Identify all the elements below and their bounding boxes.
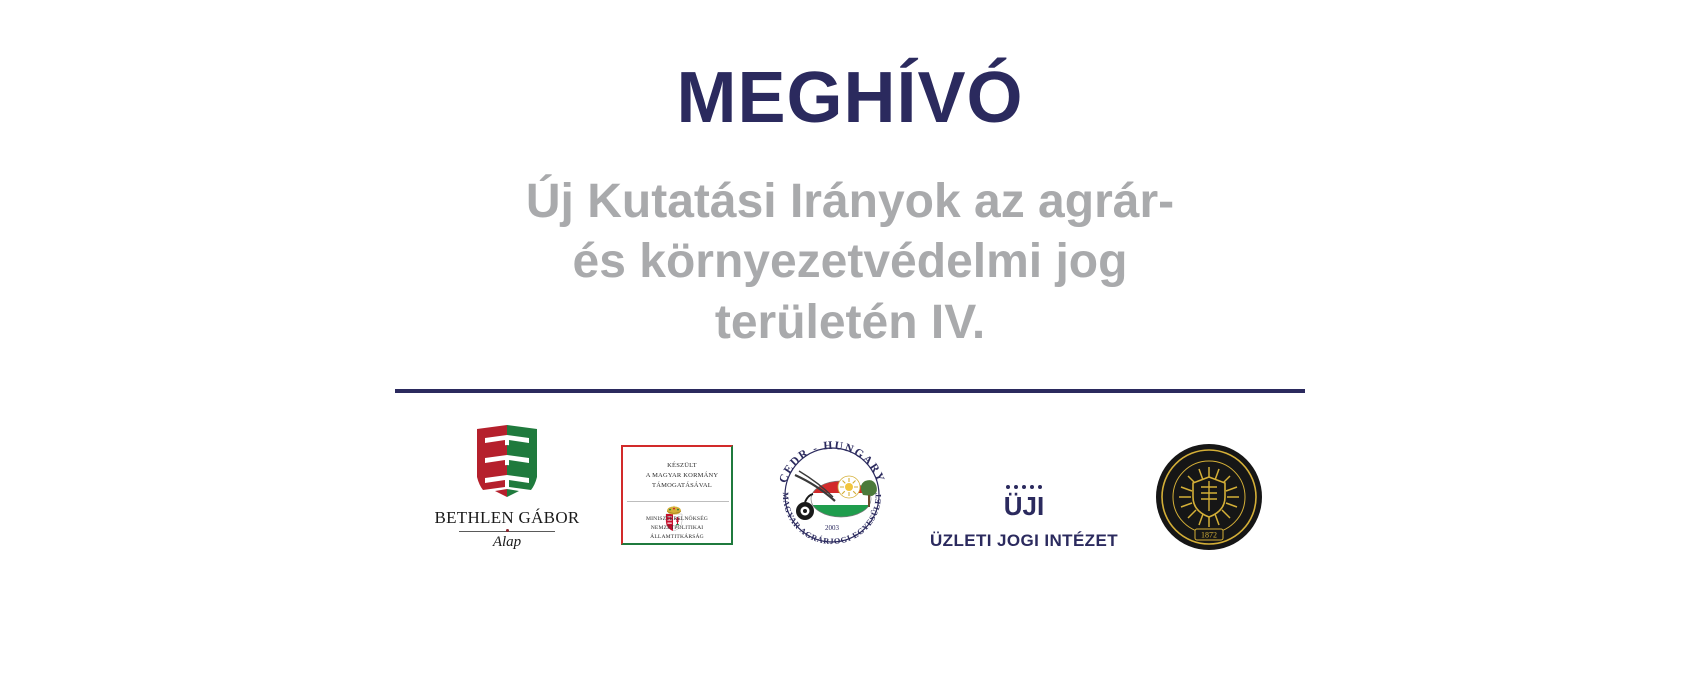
bethlen-gabor-name: BETHLEN GÁBOR [434,508,579,528]
horizontal-divider [395,389,1305,393]
subtitle-line-3: területén IV. [440,293,1260,353]
mek-bottom-line-1: MINISZTERELNÖKSÉG [625,515,729,524]
cedr-hungary-seal-icon: CEDR - HUNGARY MAGYAR AGRÁRJOGI EGYESÜLE… [771,433,893,551]
cedr-arc-top-text: CEDR - HUNGARY [777,440,886,485]
mek-top-line-3: TÁMOGATÁSÁVAL [635,481,729,491]
cedr-year-text: 2003 [825,524,840,532]
event-subtitle: Új Kutatási Irányok az agrár- és környez… [440,172,1260,353]
logo-uzleti-jogi-intezet: ÜJI ÜZLETI JOGI INTÉZET [929,481,1119,551]
mek-bottom-line-2: NEMZETPOLITIKAI ÁLLAMTITKÁRSÁG [625,524,729,541]
subtitle-line-1: Új Kutatási Irányok az agrár- [440,172,1260,232]
subtitle-line-2: és környezetvédelmi jog [440,232,1260,292]
mek-top-line-2: A MAGYAR KORMÁNY [635,471,729,481]
uji-institute-name: ÜZLETI JOGI INTÉZET [930,531,1118,551]
bethlen-gabor-rule [459,531,555,532]
divider-wrap [395,389,1305,393]
page-title: MEGHÍVÓ [676,62,1023,134]
university-seal-icon: 1872 [1155,443,1263,551]
bethlen-shield-icon [461,423,553,501]
bethlen-gabor-subname: Alap [493,534,521,551]
uji-monogram-text: ÜJI [1004,491,1044,521]
mek-top-line-1: KÉSZÜLT [635,461,729,471]
uji-monogram-icon: ÜJI [998,481,1050,521]
logo-cedr-hungary: CEDR - HUNGARY MAGYAR AGRÁRJOGI EGYESÜLE… [771,433,893,551]
miniszterelnokseg-divider [627,501,729,502]
logo-bethlen-gabor-alap: BETHLEN GÁBOR Alap [437,423,577,551]
logo-miniszterelnokseg: KÉSZÜLT A MAGYAR KORMÁNY TÁMOGATÁSÁVAL [613,439,735,551]
miniszterelnokseg-bottom-text: MINISZTERELNÖKSÉG NEMZETPOLITIKAI ÁLLAMT… [625,515,729,541]
svg-text:CEDR - HUNGARY: CEDR - HUNGARY [777,440,886,485]
logo-university-seal: 1872 [1155,443,1263,551]
invitation-page: MEGHÍVÓ Új Kutatási Irányok az agrár- és… [0,0,1700,680]
seal-year-text: 1872 [1201,531,1217,540]
invitation-content: MEGHÍVÓ Új Kutatási Irányok az agrár- és… [0,0,1700,680]
sponsor-logo-row: BETHLEN GÁBOR Alap KÉSZÜLT A MAGYAR KORM… [0,423,1700,551]
miniszterelnokseg-top-text: KÉSZÜLT A MAGYAR KORMÁNY TÁMOGATÁSÁVAL [635,461,729,490]
